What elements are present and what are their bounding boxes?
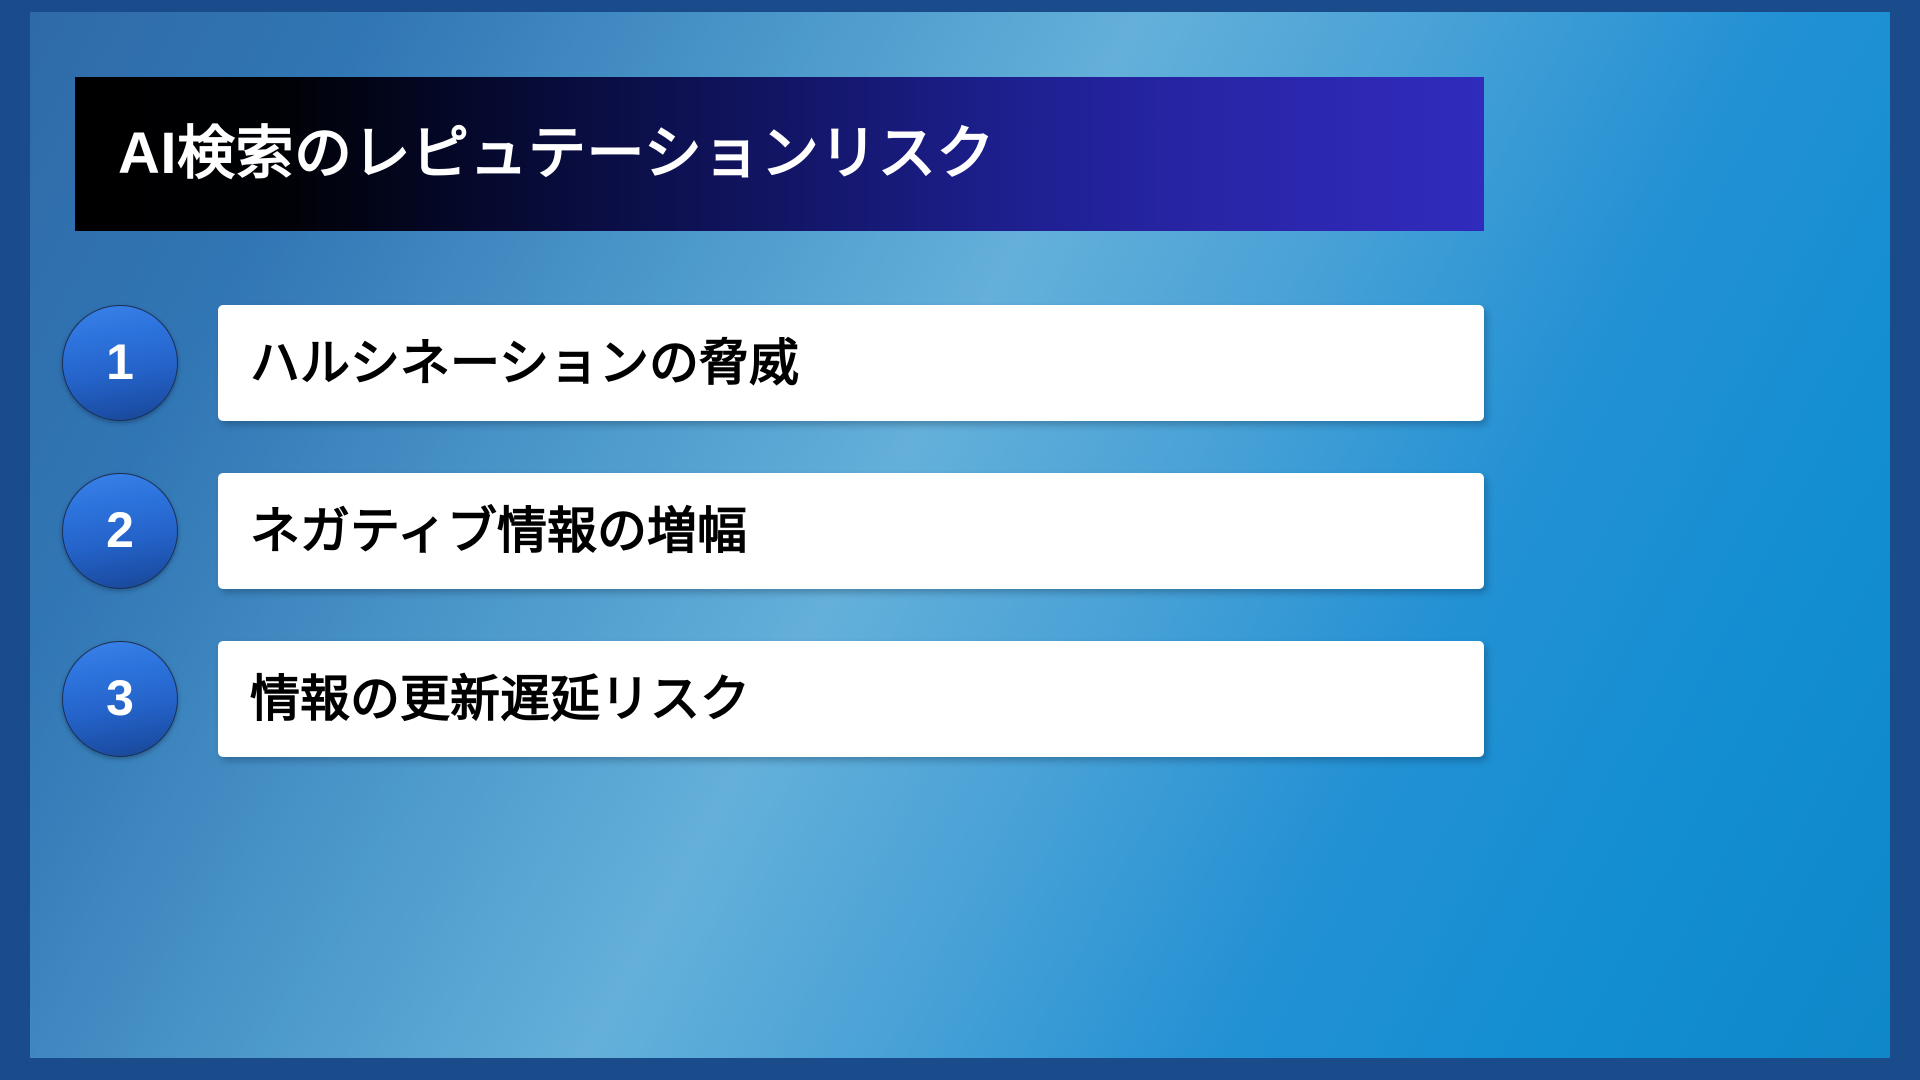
step-number-badge: 2 [62, 473, 178, 589]
list-item-card[interactable]: ハルシネーションの脅威 [218, 305, 1484, 421]
list-item-card[interactable]: ネガティブ情報の増幅 [218, 473, 1484, 589]
page-title: AI検索のレピュテーションリスク [118, 122, 995, 186]
step-number-text: 2 [106, 505, 134, 555]
slide-canvas: AI検索のレピュテーションリスク 1 ハルシネーションの脅威 2 ネガティブ情報… [30, 12, 1890, 1058]
list-item-card[interactable]: 情報の更新遅延リスク [218, 641, 1484, 757]
step-number-text: 1 [106, 337, 134, 387]
title-bar: AI検索のレピュテーションリスク [75, 77, 1484, 231]
list-item[interactable]: 2 ネガティブ情報の増幅 [30, 473, 1890, 589]
list-item-label: ネガティブ情報の増幅 [250, 504, 747, 559]
slide-frame: AI検索のレピュテーションリスク 1 ハルシネーションの脅威 2 ネガティブ情報… [0, 0, 1920, 1080]
list-item[interactable]: 3 情報の更新遅延リスク [30, 641, 1890, 757]
list-item-label: 情報の更新遅延リスク [250, 672, 750, 727]
step-number-badge: 1 [62, 305, 178, 421]
step-number-text: 3 [106, 673, 134, 723]
list-item-label: ハルシネーションの脅威 [250, 336, 799, 391]
list-item[interactable]: 1 ハルシネーションの脅威 [30, 305, 1890, 421]
step-number-badge: 3 [62, 641, 178, 757]
